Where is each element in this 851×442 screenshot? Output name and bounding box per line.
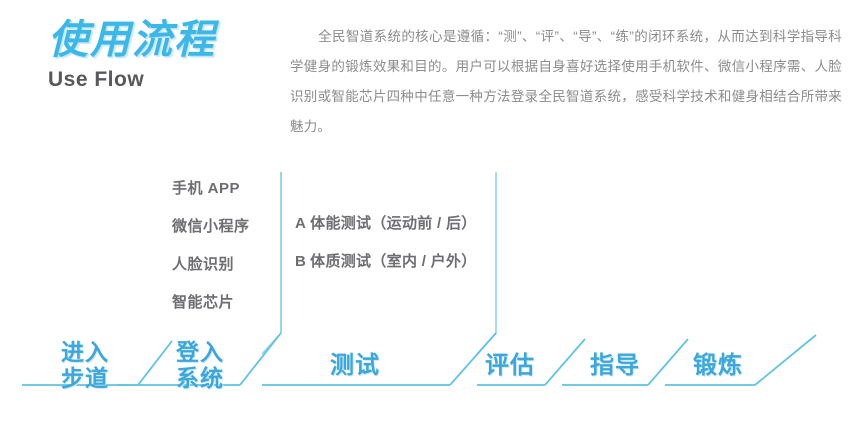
stage-3[interactable]: 测试 xyxy=(300,325,410,405)
stage-1[interactable]: 进入步道 xyxy=(30,325,140,405)
list-item: 智能芯片 xyxy=(172,284,272,322)
stage-label-5: 指导 xyxy=(590,352,640,379)
page-title-en: Use Flow xyxy=(48,68,288,92)
stage-line1: 进入 xyxy=(61,339,109,365)
stage-4[interactable]: 评估 xyxy=(460,325,560,405)
stage-line1: 登入 xyxy=(176,339,224,365)
page-title-cn: 使用流程 xyxy=(48,18,288,62)
stage-line2: 系统 xyxy=(176,365,224,391)
list-item: 人脸识别 xyxy=(172,246,272,284)
test-key: A xyxy=(295,215,306,232)
stage-5[interactable]: 指导 xyxy=(565,325,665,405)
login-method-list: 手机 APP 微信小程序 人脸识别 智能芯片 xyxy=(172,170,272,322)
stage-6[interactable]: 锻炼 xyxy=(668,325,768,405)
title-block: 使用流程 Use Flow xyxy=(48,18,288,92)
stage-label-4: 评估 xyxy=(485,352,535,379)
middle-section: 手机 APP 微信小程序 人脸识别 智能芯片 A体能测试（运动前 / 后） B体… xyxy=(0,155,851,335)
test-key: B xyxy=(295,253,306,270)
list-item: A体能测试（运动前 / 后） xyxy=(295,205,495,243)
list-item: 手机 APP xyxy=(172,170,272,208)
intro-text: 全民智道系统的核心是遵循：“测”、“评”、“导”、“练”的闭环系统，从而达到科学… xyxy=(290,29,842,134)
list-item: B体质测试（室内 / 户外） xyxy=(295,243,495,281)
use-flow-infographic: 使用流程 Use Flow 全民智道系统的核心是遵循：“测”、“评”、“导”、“… xyxy=(0,0,851,442)
list-item: 微信小程序 xyxy=(172,208,272,246)
stage-label-2: 登入系统 xyxy=(176,339,224,391)
stage-label-6: 锻炼 xyxy=(693,352,743,379)
stage-line2: 步道 xyxy=(61,365,109,391)
test-type-list: A体能测试（运动前 / 后） B体质测试（室内 / 户外） xyxy=(295,205,495,281)
intro-paragraph: 全民智道系统的核心是遵循：“测”、“评”、“导”、“练”的闭环系统，从而达到科学… xyxy=(290,22,842,142)
stage-2[interactable]: 登入系统 xyxy=(145,325,255,405)
header-section: 使用流程 Use Flow 全民智道系统的核心是遵循：“测”、“评”、“导”、“… xyxy=(0,0,851,150)
test-label: 体质测试（室内 / 户外） xyxy=(310,253,476,270)
stage-label-1: 进入步道 xyxy=(61,339,109,391)
stage-label-3: 测试 xyxy=(330,352,380,379)
flow-stage-bar: 进入步道 登入系统 测试 评估 指导 锻炼 xyxy=(0,325,851,405)
test-label: 体能测试（运动前 / 后） xyxy=(310,215,476,232)
